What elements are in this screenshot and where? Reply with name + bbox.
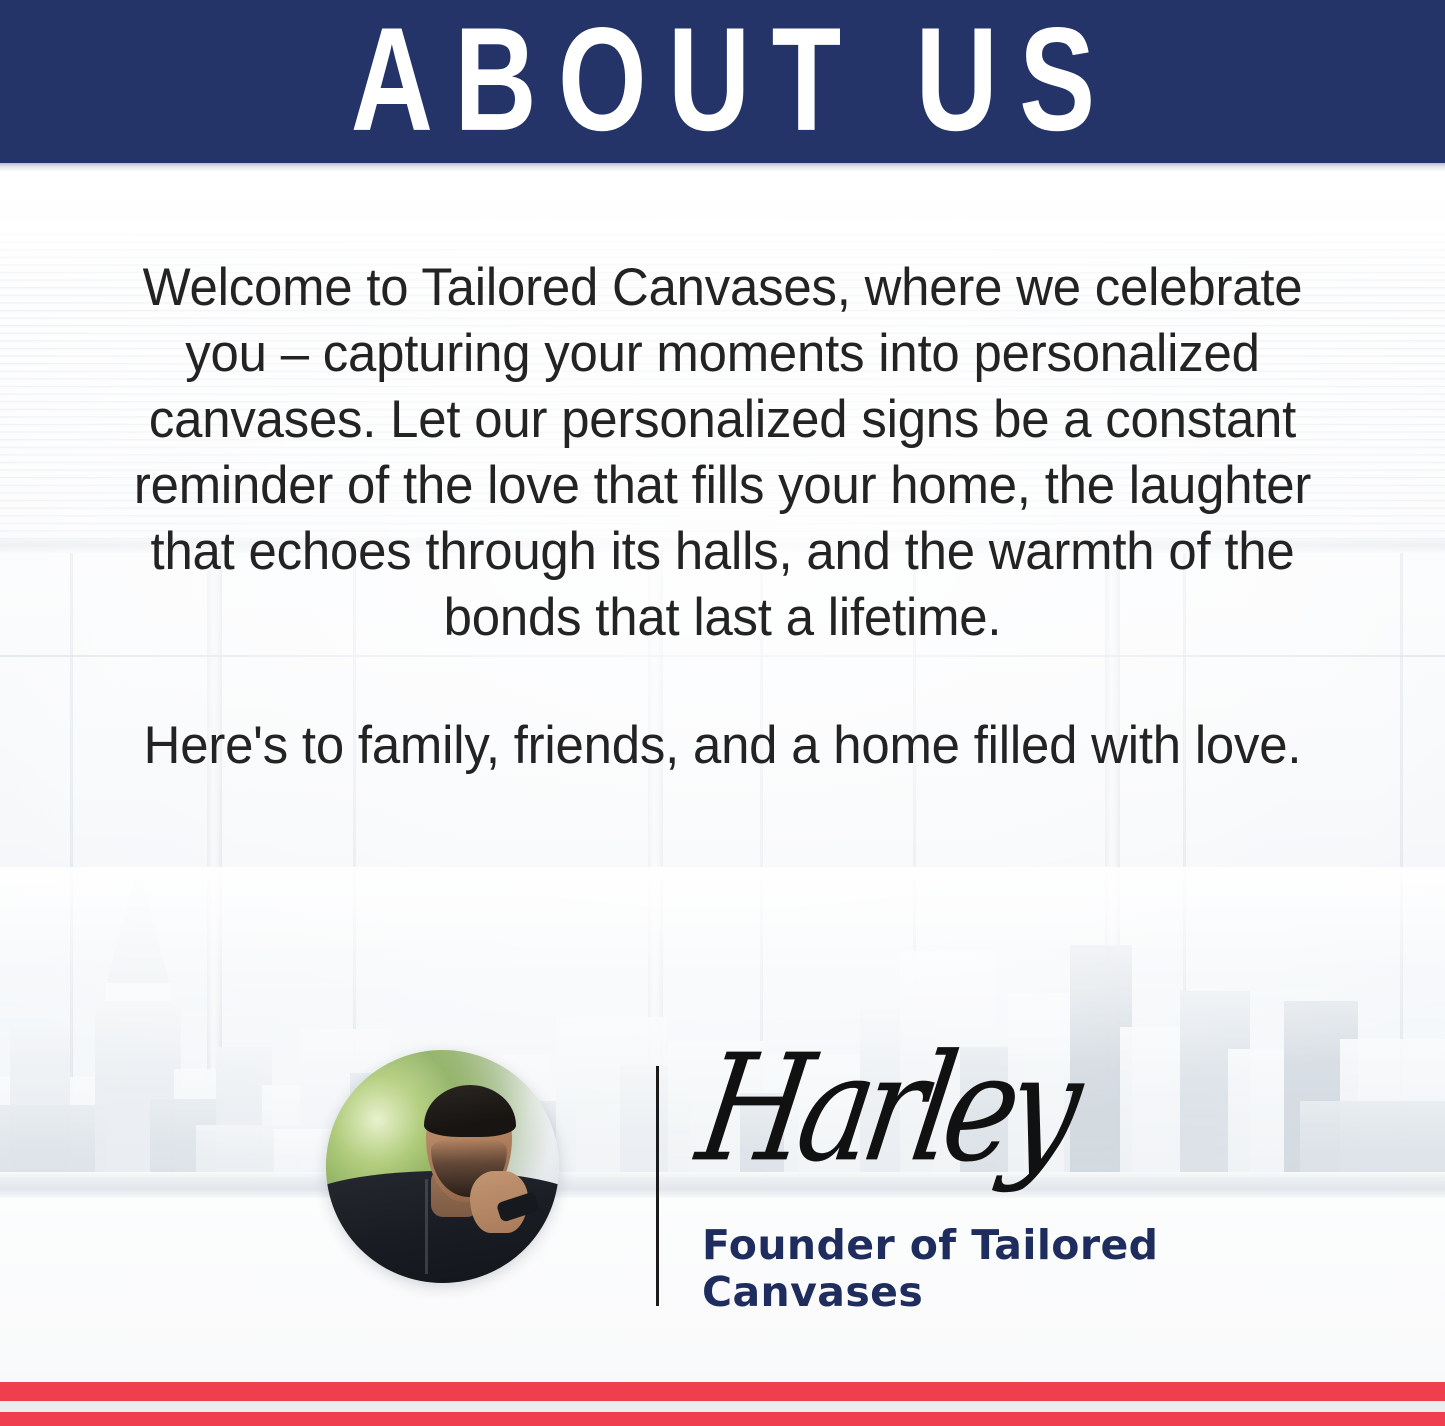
signature-divider bbox=[656, 1066, 659, 1306]
founder-role-line-1: Founder of Tailored bbox=[702, 1222, 1172, 1269]
paragraph-intro: Welcome to Tailored Canvases, where we c… bbox=[29, 255, 1416, 651]
footer-bar-gap bbox=[0, 1401, 1445, 1412]
founder-avatar bbox=[326, 1050, 559, 1283]
footer-bar-bottom bbox=[0, 1412, 1445, 1426]
header-banner: ABOUT US bbox=[0, 0, 1445, 163]
footer-bar-top bbox=[0, 1382, 1445, 1401]
founder-role-line-2: Canvases bbox=[702, 1269, 1172, 1316]
founder-role: Founder of Tailored Canvases bbox=[702, 1222, 1172, 1316]
founder-signature: Harley bbox=[690, 1035, 1082, 1183]
paragraph-spacer bbox=[0, 651, 1445, 713]
about-us-copy: Welcome to Tailored Canvases, where we c… bbox=[0, 255, 1445, 779]
header-shadow bbox=[0, 163, 1445, 172]
paragraph-closing: Here's to family, friends, and a home fi… bbox=[29, 713, 1416, 779]
about-us-poster: ABOUT US Welcome to Tailored Canvases, w… bbox=[0, 0, 1445, 1426]
page-title: ABOUT US bbox=[329, 6, 1116, 153]
